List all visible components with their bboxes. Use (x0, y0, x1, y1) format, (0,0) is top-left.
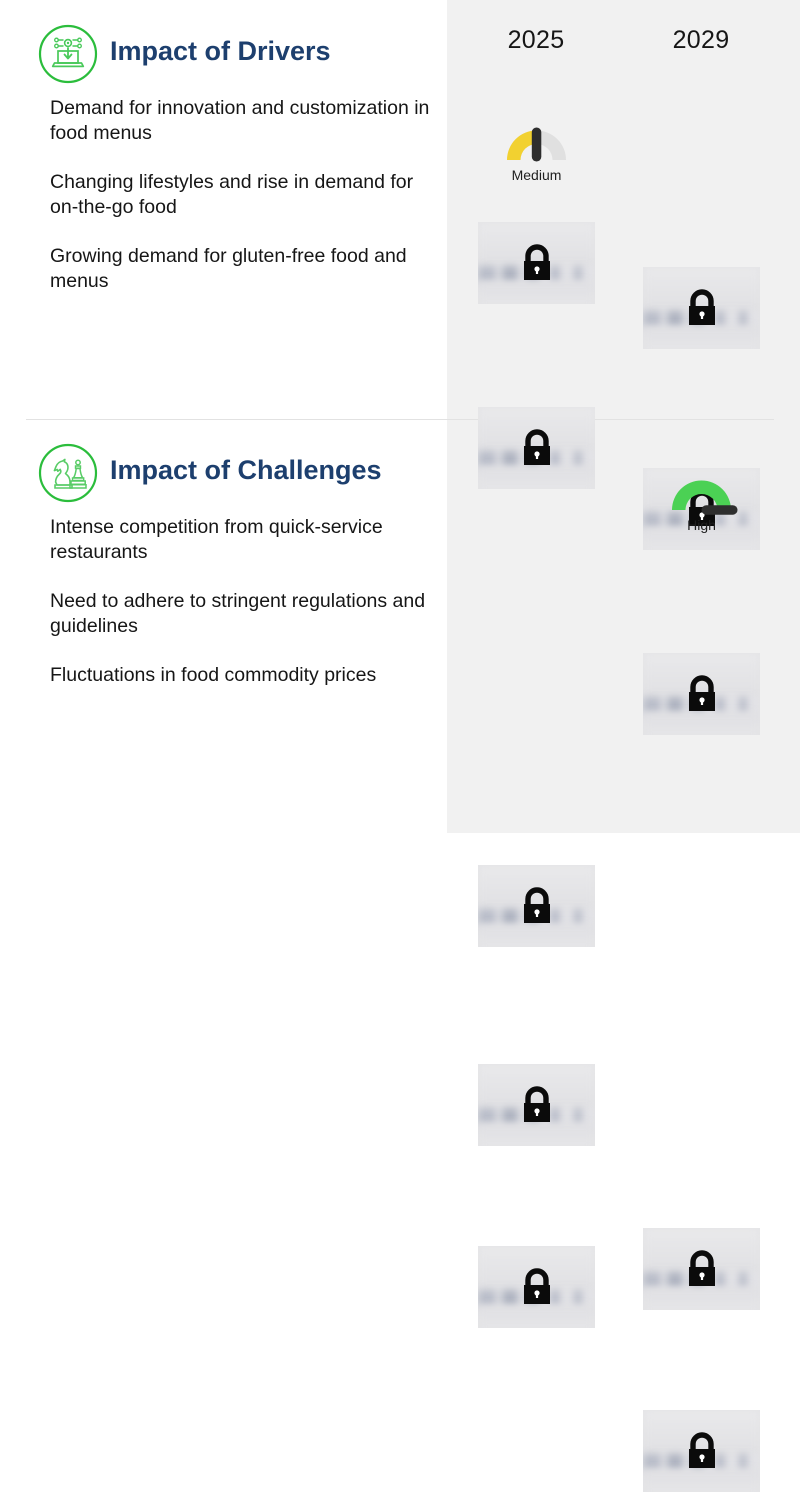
item-list-challenges: Intense competition from quick-service r… (50, 515, 440, 737)
blurred-content (478, 1124, 595, 1146)
list-item: Changing lifestyles and rise in demand f… (50, 170, 440, 244)
cell-challenges-1-2025[interactable] (478, 1064, 595, 1146)
gauge-label: Medium (478, 167, 595, 183)
cell-drivers-0-2029[interactable] (643, 267, 760, 349)
section-header-drivers: Impact of Drivers (0, 0, 447, 88)
blurred-content (643, 1288, 760, 1310)
column-header-2025: 2025 (477, 26, 595, 55)
list-item: Demand for innovation and customization … (50, 96, 440, 170)
lock-icon (682, 1248, 722, 1290)
blurred-content (643, 713, 760, 735)
cell-challenges-2-2025[interactable] (478, 1246, 595, 1328)
chess-pieces-icon (38, 443, 98, 503)
blurred-content (478, 1306, 595, 1328)
blurred-content (643, 1470, 760, 1492)
lock-icon (682, 673, 722, 715)
list-item: Need to adhere to stringent regulations … (50, 589, 440, 663)
section-header-challenges: Impact of Challenges (0, 419, 447, 507)
blurred-content (643, 327, 760, 349)
cell-drivers-2-2029[interactable] (643, 653, 760, 735)
innovation-laptop-icon (38, 24, 98, 84)
lock-icon (682, 287, 722, 329)
cell-challenges-1-2029[interactable] (643, 1228, 760, 1310)
gauge-label: High (643, 517, 760, 533)
cell-drivers-1-2025[interactable] (478, 222, 595, 304)
lock-icon (517, 242, 557, 284)
cell-drivers-2-2025[interactable] (478, 407, 595, 489)
blurred-content (478, 282, 595, 304)
blurred-content (478, 925, 595, 947)
cell-challenges-2-2029[interactable] (643, 1410, 760, 1492)
gauge-medium (478, 105, 595, 165)
cell-challenges-0-2025[interactable] (478, 865, 595, 947)
lock-icon (517, 1266, 557, 1308)
blurred-content (478, 467, 595, 489)
item-list-drivers: Demand for innovation and customization … (50, 96, 440, 318)
cell-challenges-0-2029: High (643, 455, 760, 537)
section-title-challenges: Impact of Challenges (110, 455, 382, 486)
lock-icon (517, 1084, 557, 1126)
lock-icon (517, 885, 557, 927)
gauge-high (643, 455, 760, 515)
section-title-drivers: Impact of Drivers (110, 36, 331, 67)
cell-drivers-0-2025: Medium (478, 105, 595, 187)
column-header-2029: 2029 (642, 26, 760, 55)
list-item: Intense competition from quick-service r… (50, 515, 440, 589)
list-item: Fluctuations in food commodity prices (50, 663, 440, 737)
list-item: Growing demand for gluten-free food and … (50, 244, 440, 318)
lock-icon (517, 427, 557, 469)
lock-icon (682, 1430, 722, 1472)
section-drivers: Impact of Drivers Demand for innovation … (0, 0, 447, 88)
section-challenges: Impact of Challenges Intense competition… (0, 419, 447, 507)
